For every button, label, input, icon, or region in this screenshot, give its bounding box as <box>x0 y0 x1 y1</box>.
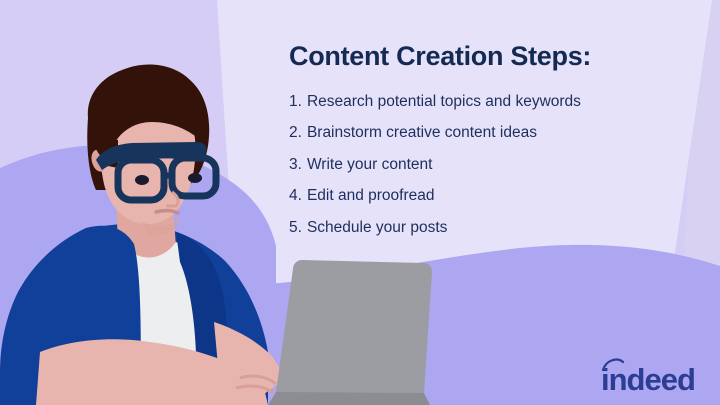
eye-left <box>135 175 149 185</box>
slide-content: Content Creation Steps: 1. Research pote… <box>289 42 649 251</box>
indeed-logo: indeed <box>601 357 709 397</box>
list-item: 5. Schedule your posts <box>289 220 649 236</box>
steps-list: 1. Research potential topics and keyword… <box>289 94 649 236</box>
list-item: 3. Write your content <box>289 157 649 173</box>
slide-canvas: Content Creation Steps: 1. Research pote… <box>0 0 720 405</box>
list-item: 4. Edit and proofread <box>289 188 649 204</box>
list-item-number: 2. <box>289 125 302 141</box>
list-item-number: 5. <box>289 220 302 236</box>
list-item: 1. Research potential topics and keyword… <box>289 94 649 110</box>
laptop-base <box>268 392 430 405</box>
list-item: 2. Brainstorm creative content ideas <box>289 125 649 141</box>
list-item-label: Schedule your posts <box>307 220 447 236</box>
indeed-wordmark: indeed <box>601 362 695 397</box>
list-item-label: Brainstorm creative content ideas <box>307 125 537 141</box>
laptop <box>268 260 432 405</box>
list-item-label: Edit and proofread <box>307 188 435 204</box>
laptop-screen-back <box>276 260 432 400</box>
eye-right <box>188 173 202 183</box>
list-item-label: Research potential topics and keywords <box>307 94 581 110</box>
list-item-label: Write your content <box>307 157 433 173</box>
list-item-number: 4. <box>289 188 302 204</box>
page-title: Content Creation Steps: <box>289 42 649 72</box>
list-item-number: 1. <box>289 94 302 110</box>
list-item-number: 3. <box>289 157 302 173</box>
